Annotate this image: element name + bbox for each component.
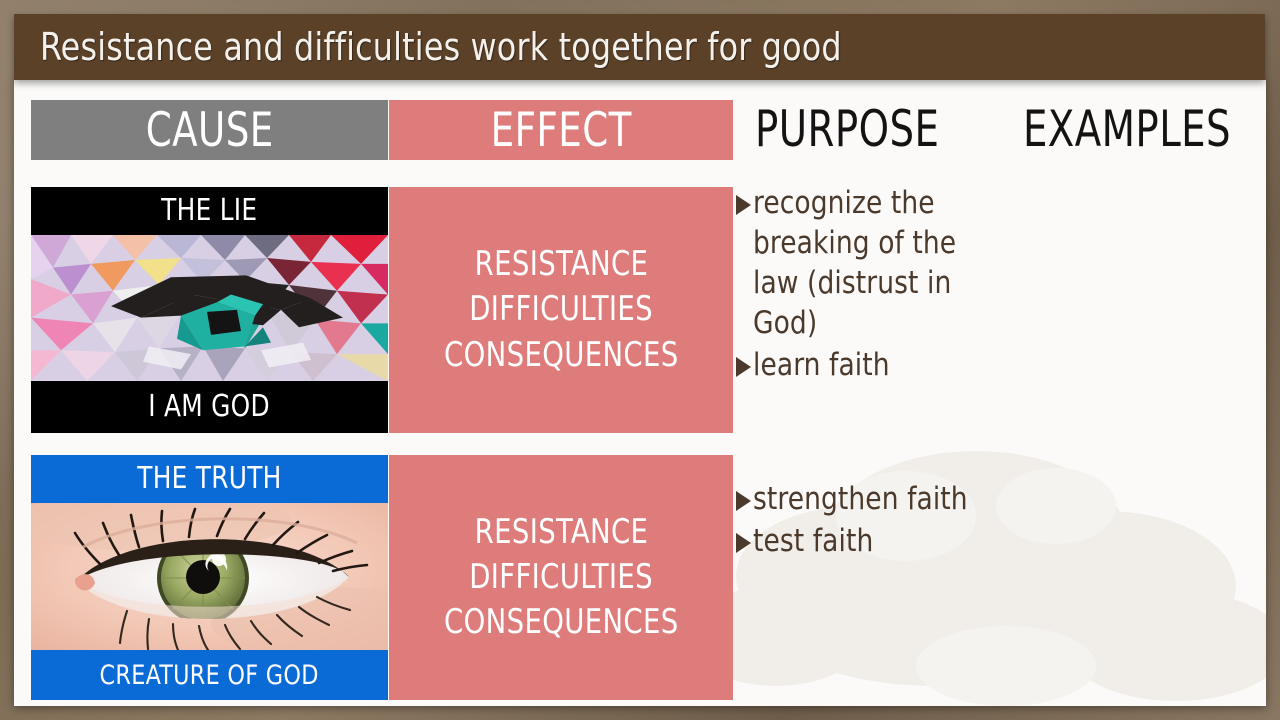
purpose-bullet-text: recognize the breaking of the law (distr… xyxy=(753,184,994,344)
cause-card-truth-header-label: THE TRUTH xyxy=(137,464,281,494)
effect-line-difficulties: DIFFICULTIES xyxy=(469,287,653,332)
column-header-cause-label: CAUSE xyxy=(145,107,273,154)
effect-line-difficulties: DIFFICULTIES xyxy=(469,555,653,600)
purpose-cell-row1: recognize the breaking of the law (distr… xyxy=(736,184,994,434)
column-header-examples: EXAMPLES xyxy=(1002,96,1270,162)
page-title: Resistance and difficulties work togethe… xyxy=(40,28,842,66)
effect-cell-row2: RESISTANCE DIFFICULTIES CONSEQUENCES xyxy=(389,455,733,700)
cause-card-truth: THE TRUTH xyxy=(31,455,388,700)
purpose-bullet-text: strengthen faith xyxy=(753,480,979,520)
cause-card-lie-header-label: THE LIE xyxy=(161,196,257,226)
purpose-bullet: learn faith xyxy=(736,346,994,386)
column-header-effect: EFFECT xyxy=(389,100,733,160)
cause-card-lie-image xyxy=(31,235,388,381)
triangle-bullet-icon xyxy=(736,533,751,553)
purpose-bullet: test faith xyxy=(736,522,994,562)
comparison-table: CAUSE EFFECT PURPOSE EXAMPLES THE LIE xyxy=(14,80,1266,706)
purpose-bullet-text: learn faith xyxy=(753,346,897,386)
purpose-bullet-text: test faith xyxy=(753,522,880,562)
cause-card-lie-footer: I AM GOD xyxy=(31,381,388,433)
column-header-examples-label: EXAMPLES xyxy=(1023,104,1231,154)
column-header-cause: CAUSE xyxy=(31,100,388,160)
cause-card-lie-footer-label: I AM GOD xyxy=(149,392,271,422)
triangle-bullet-icon xyxy=(736,491,751,511)
examples-cell-row1 xyxy=(1002,184,1260,700)
cause-card-lie: THE LIE xyxy=(31,187,388,433)
effect-cell-row1: RESISTANCE DIFFICULTIES CONSEQUENCES xyxy=(389,187,733,433)
purpose-bullet: strengthen faith xyxy=(736,480,994,520)
effect-line-resistance: RESISTANCE xyxy=(474,242,648,287)
column-header-effect-label: EFFECT xyxy=(490,107,631,154)
slide-title-bar: Resistance and difficulties work togethe… xyxy=(14,14,1265,80)
slide-root: Resistance and difficulties work togethe… xyxy=(0,0,1280,720)
column-header-purpose: PURPOSE xyxy=(736,96,995,162)
cause-card-truth-header: THE TRUTH xyxy=(31,455,388,503)
triangle-bullet-icon xyxy=(736,195,751,215)
cause-card-truth-footer: CREATURE OF GOD xyxy=(31,650,388,700)
purpose-cell-row2: strengthen faith test faith xyxy=(736,480,994,702)
slide-canvas: CAUSE EFFECT PURPOSE EXAMPLES THE LIE xyxy=(14,80,1266,706)
cause-card-truth-image xyxy=(31,503,388,650)
cause-card-truth-footer-label: CREATURE OF GOD xyxy=(100,662,319,689)
cause-card-lie-header: THE LIE xyxy=(31,187,388,235)
effect-line-consequences: CONSEQUENCES xyxy=(444,600,679,645)
effect-line-resistance: RESISTANCE xyxy=(474,510,648,555)
purpose-bullet: recognize the breaking of the law (distr… xyxy=(736,184,994,344)
effect-line-consequences: CONSEQUENCES xyxy=(444,333,679,378)
column-header-purpose-label: PURPOSE xyxy=(755,104,939,154)
triangle-bullet-icon xyxy=(736,357,751,377)
